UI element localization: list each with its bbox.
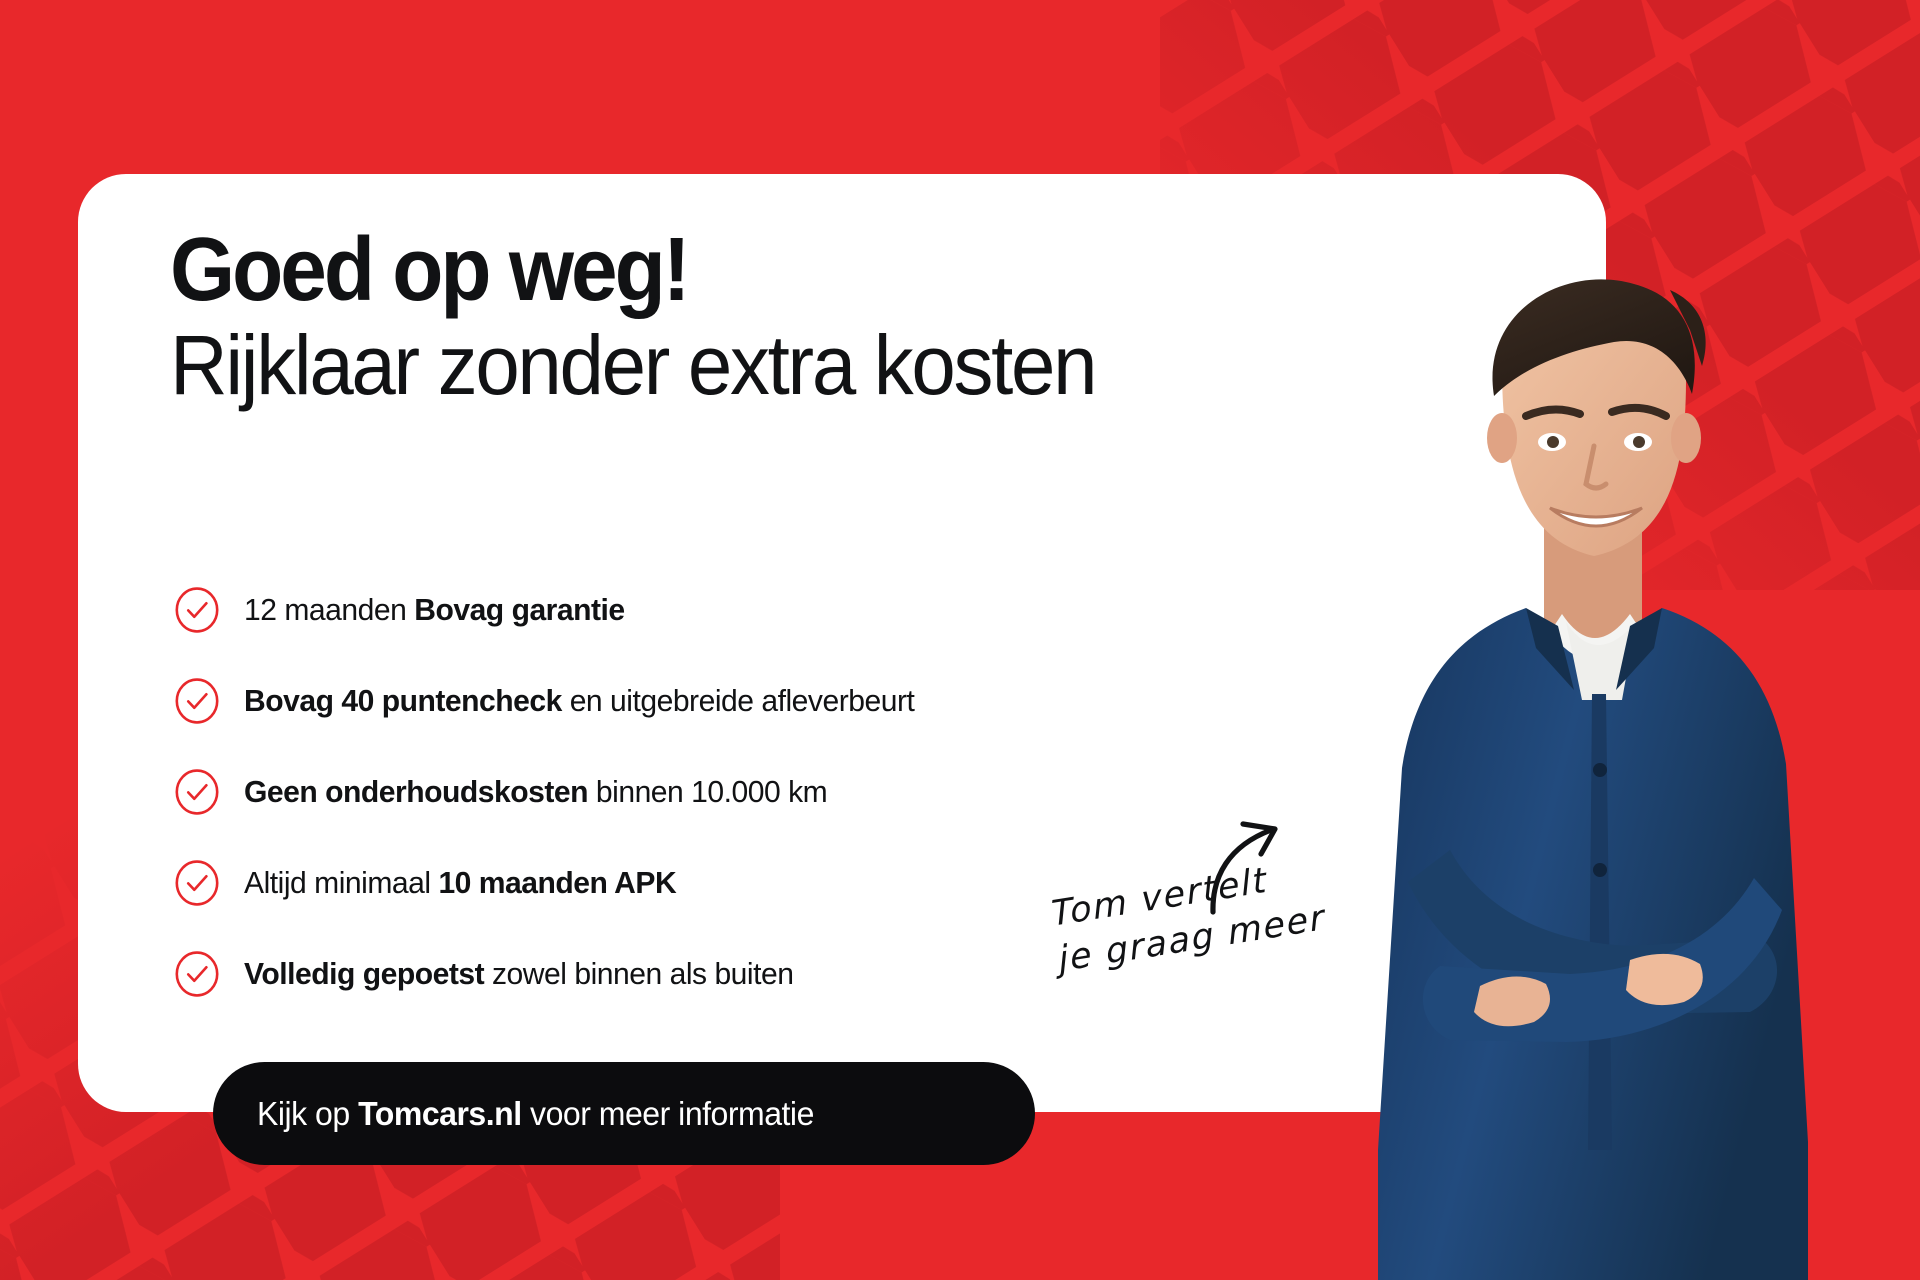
benefit-suffix: en uitgebreide afleverbeurt xyxy=(562,683,915,718)
list-item: Geen onderhoudskosten binnen 10.000 km xyxy=(174,756,1224,828)
check-circle-icon xyxy=(174,860,220,906)
list-item: Volledig gepoetst zowel binnen als buite… xyxy=(174,938,1224,1010)
benefit-list: 12 maanden Bovag garantie Bovag 40 punte… xyxy=(174,574,1224,1010)
benefit-suffix: binnen 10.000 km xyxy=(588,774,827,809)
benefit-strong: 10 maanden APK xyxy=(438,865,676,900)
list-item: Altijd minimaal 10 maanden APK xyxy=(174,847,1224,919)
content-card: Goed op weg! Rijklaar zonder extra koste… xyxy=(78,174,1606,1112)
heading-block: Goed op weg! Rijklaar zonder extra koste… xyxy=(170,226,1470,412)
page-title: Goed op weg! xyxy=(170,226,1379,314)
cta-prefix: Kijk op xyxy=(257,1095,358,1132)
cta-strong: Tomcars.nl xyxy=(358,1095,522,1132)
page-subtitle: Rijklaar zonder extra kosten xyxy=(170,318,1405,412)
benefit-strong: Bovag 40 puntencheck xyxy=(244,683,562,718)
check-circle-icon xyxy=(174,769,220,815)
benefit-text: Geen onderhoudskosten binnen 10.000 km xyxy=(244,774,827,810)
benefit-text: Bovag 40 puntencheck en uitgebreide afle… xyxy=(244,683,914,719)
promo-banner: Goed op weg! Rijklaar zonder extra koste… xyxy=(0,0,1920,1280)
benefit-text: Altijd minimaal 10 maanden APK xyxy=(244,865,676,901)
cta-button[interactable]: Kijk op Tomcars.nl voor meer informatie xyxy=(213,1062,1035,1165)
benefit-text: 12 maanden Bovag garantie xyxy=(244,592,625,628)
benefit-text: Volledig gepoetst zowel binnen als buite… xyxy=(244,956,793,992)
benefit-strong: Volledig gepoetst xyxy=(244,956,484,991)
cta-label: Kijk op Tomcars.nl voor meer informatie xyxy=(257,1095,814,1133)
check-circle-icon xyxy=(174,587,220,633)
benefit-strong: Bovag garantie xyxy=(414,592,624,627)
cta-suffix: voor meer informatie xyxy=(522,1095,814,1132)
check-circle-icon xyxy=(174,678,220,724)
benefit-prefix: Altijd minimaal xyxy=(244,865,438,900)
benefit-prefix: 12 maanden xyxy=(244,592,414,627)
benefit-strong: Geen onderhoudskosten xyxy=(244,774,588,809)
benefit-suffix: zowel binnen als buiten xyxy=(484,956,793,991)
list-item: Bovag 40 puntencheck en uitgebreide afle… xyxy=(174,665,1224,737)
list-item: 12 maanden Bovag garantie xyxy=(174,574,1224,646)
check-circle-icon xyxy=(174,951,220,997)
